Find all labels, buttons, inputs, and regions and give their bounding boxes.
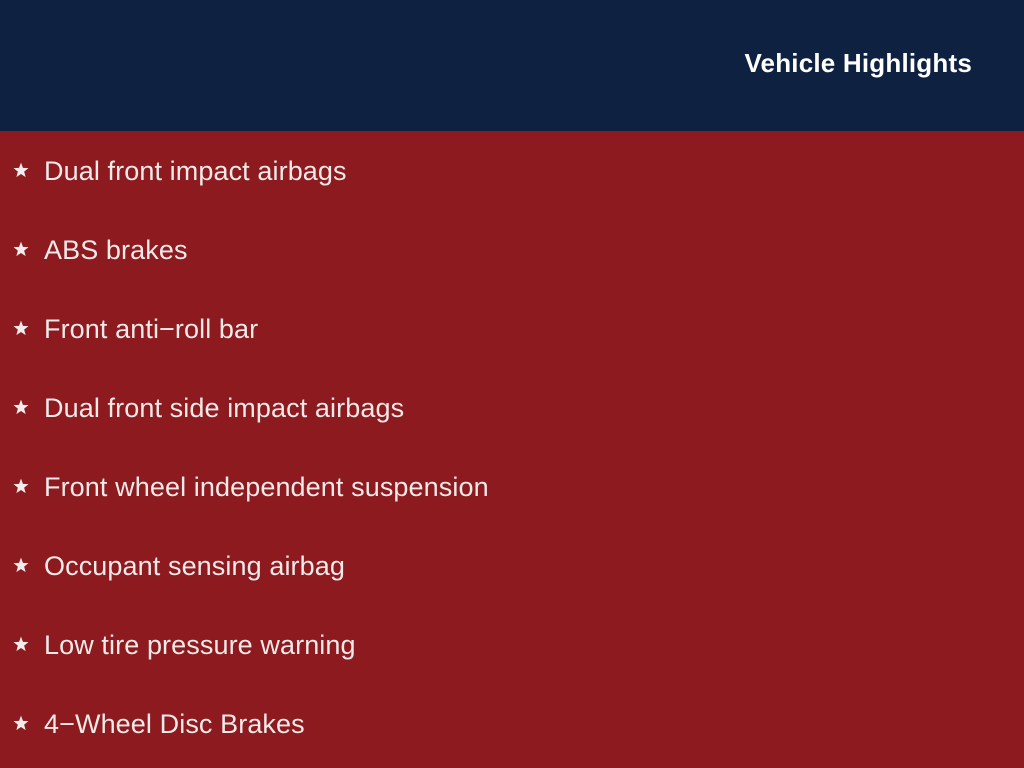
star-icon — [13, 557, 29, 573]
list-item-label: Low tire pressure warning — [44, 629, 356, 661]
page-title: Vehicle Highlights — [744, 47, 972, 79]
list-item: Front anti−roll bar — [0, 289, 1024, 368]
vehicle-highlights-list: Dual front impact airbags ABS brakes Fro… — [0, 131, 1024, 763]
list-item: ABS brakes — [0, 210, 1024, 289]
list-item-label: Front anti−roll bar — [44, 313, 258, 345]
list-item-label: Dual front side impact airbags — [44, 392, 404, 424]
list-item-label: Dual front impact airbags — [44, 155, 347, 187]
star-icon — [13, 162, 29, 178]
list-item-label: Occupant sensing airbag — [44, 550, 345, 582]
header-band: Vehicle Highlights — [0, 0, 1024, 131]
star-icon — [13, 715, 29, 731]
list-item-label: ABS brakes — [44, 234, 188, 266]
list-item-label: 4−Wheel Disc Brakes — [44, 708, 305, 740]
list-item: Dual front impact airbags — [0, 131, 1024, 210]
star-icon — [13, 241, 29, 257]
list-item-label: Front wheel independent suspension — [44, 471, 489, 503]
slide-canvas: Vehicle Highlights Dual front impact air… — [0, 0, 1024, 768]
list-item: 4−Wheel Disc Brakes — [0, 684, 1024, 763]
list-item: Low tire pressure warning — [0, 605, 1024, 684]
star-icon — [13, 399, 29, 415]
list-item: Dual front side impact airbags — [0, 368, 1024, 447]
star-icon — [13, 320, 29, 336]
star-icon — [13, 478, 29, 494]
list-item: Front wheel independent suspension — [0, 447, 1024, 526]
star-icon — [13, 636, 29, 652]
list-item: Occupant sensing airbag — [0, 526, 1024, 605]
